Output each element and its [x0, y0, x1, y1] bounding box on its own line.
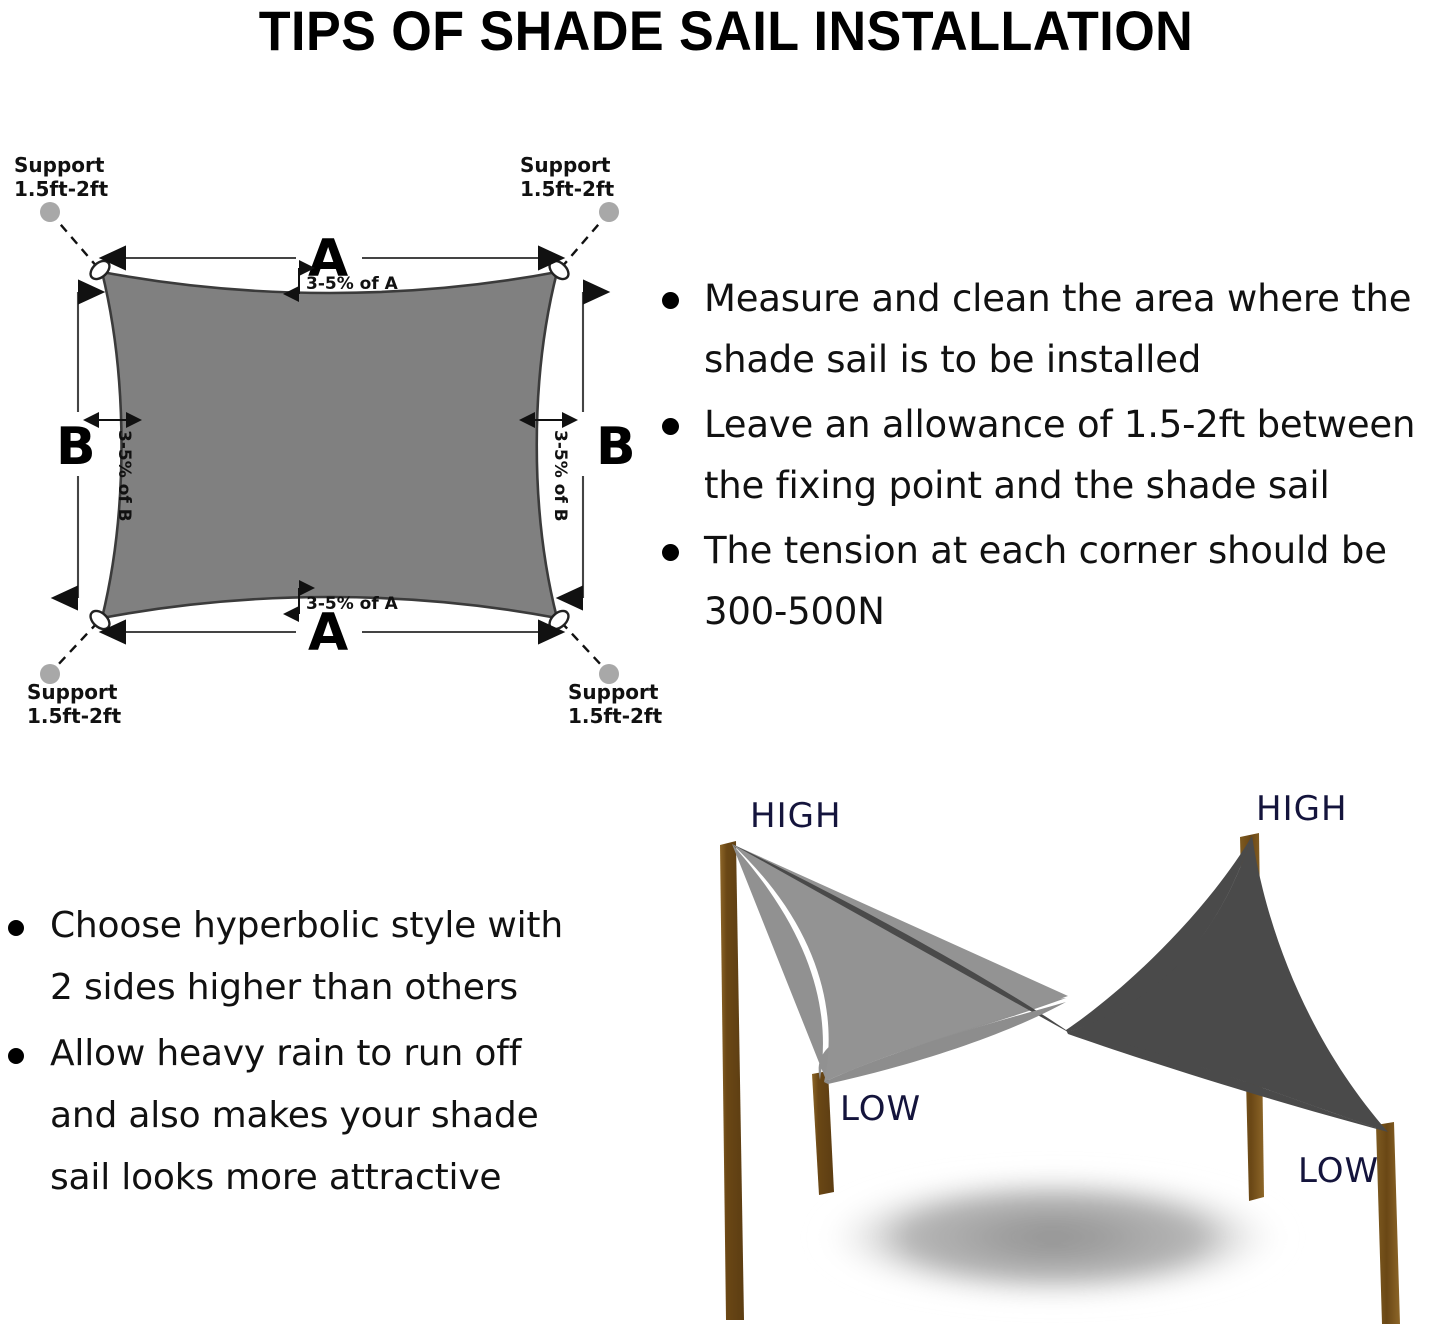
- bullet-line: The tension at each corner should be: [704, 529, 1387, 572]
- page-title: TIPS OF SHADE SAIL INSTALLATION: [51, 0, 1401, 62]
- list-item: Leave an allowance of 1.5-2ft between th…: [648, 394, 1452, 516]
- shade-sail-shape: [102, 272, 557, 618]
- support-label-top-right-line2: 1.5ft-2ft: [520, 177, 615, 201]
- support-line-top-right: [561, 218, 604, 268]
- installation-tips-list: Measure and clean the area where the sha…: [648, 268, 1452, 646]
- post-label-low-right: LOW: [1298, 1151, 1379, 1191]
- post-label-low-left: LOW: [840, 1089, 921, 1129]
- top-bullet-list: Measure and clean the area where the sha…: [648, 268, 1452, 642]
- support-label-bottom-left-line1: Support: [27, 680, 118, 704]
- list-item: Choose hyperbolic style with 2 sides hig…: [0, 895, 630, 1019]
- hyperbolic-tips-list: Choose hyperbolic style with 2 sides hig…: [0, 895, 630, 1213]
- dimension-label-b-left: B: [56, 417, 96, 477]
- support-label-bottom-right-line2: 1.5ft-2ft: [568, 704, 663, 728]
- list-item: Allow heavy rain to run off and also mak…: [0, 1023, 630, 1209]
- post-label-high-right: HIGH: [1256, 789, 1348, 829]
- bullet-line: Measure and clean the area where the: [704, 277, 1411, 320]
- hyperbolic-sail-diagram: HIGH HIGH LOW LOW: [648, 780, 1452, 1325]
- bullet-dot-icon: [662, 544, 679, 561]
- curve-label-right: 3-5% of B: [550, 430, 570, 522]
- post-low-right: [1376, 1122, 1400, 1324]
- support-line-bottom-right: [561, 622, 604, 668]
- support-label-top-right-line1: Support: [520, 153, 611, 177]
- bullet-line: Choose hyperbolic style with: [50, 905, 563, 946]
- bullet-dot-icon: [8, 920, 24, 936]
- list-item: Measure and clean the area where the sha…: [648, 268, 1452, 390]
- post-low-left: [812, 1071, 834, 1195]
- bullet-line: and also makes your shade: [50, 1095, 539, 1136]
- post-label-high-left: HIGH: [750, 796, 842, 836]
- support-label-top-left-line1: Support: [14, 153, 105, 177]
- list-item: The tension at each corner should be 300…: [648, 520, 1452, 642]
- curve-label-top: 3-5% of A: [306, 274, 399, 294]
- bullet-line: 2 sides higher than others: [50, 967, 518, 1008]
- support-label-bottom-left-line2: 1.5ft-2ft: [27, 704, 122, 728]
- bullet-dot-icon: [662, 292, 679, 309]
- dimension-label-b-right: B: [596, 417, 636, 477]
- bullet-line: sail looks more attractive: [50, 1157, 501, 1198]
- support-dot-top-right: [599, 202, 619, 222]
- bottom-bullet-list: Choose hyperbolic style with 2 sides hig…: [0, 895, 630, 1209]
- support-line-bottom-left: [55, 622, 98, 668]
- bullet-dot-icon: [662, 418, 679, 435]
- support-dot-top-left: [40, 202, 60, 222]
- bullet-line: Allow heavy rain to run off: [50, 1033, 521, 1074]
- support-label-bottom-right-line1: Support: [568, 680, 659, 704]
- bullet-line: the fixing point and the shade sail: [704, 464, 1330, 507]
- curve-label-left: 3-5% of B: [114, 430, 134, 522]
- curve-label-bottom: 3-5% of A: [306, 594, 399, 614]
- ground-shadow: [815, 1171, 1291, 1303]
- support-line-top-left: [55, 218, 98, 268]
- bullet-line: shade sail is to be installed: [704, 338, 1201, 381]
- bullet-dot-icon: [8, 1048, 24, 1064]
- bullet-line: 300-500N: [704, 590, 885, 633]
- rectangular-sail-diagram: Support 1.5ft-2ft Support 1.5ft-2ft Supp…: [0, 150, 645, 750]
- support-label-top-left-line2: 1.5ft-2ft: [14, 177, 109, 201]
- post-high-left: [720, 841, 744, 1320]
- bullet-line: Leave an allowance of 1.5-2ft between: [704, 403, 1415, 446]
